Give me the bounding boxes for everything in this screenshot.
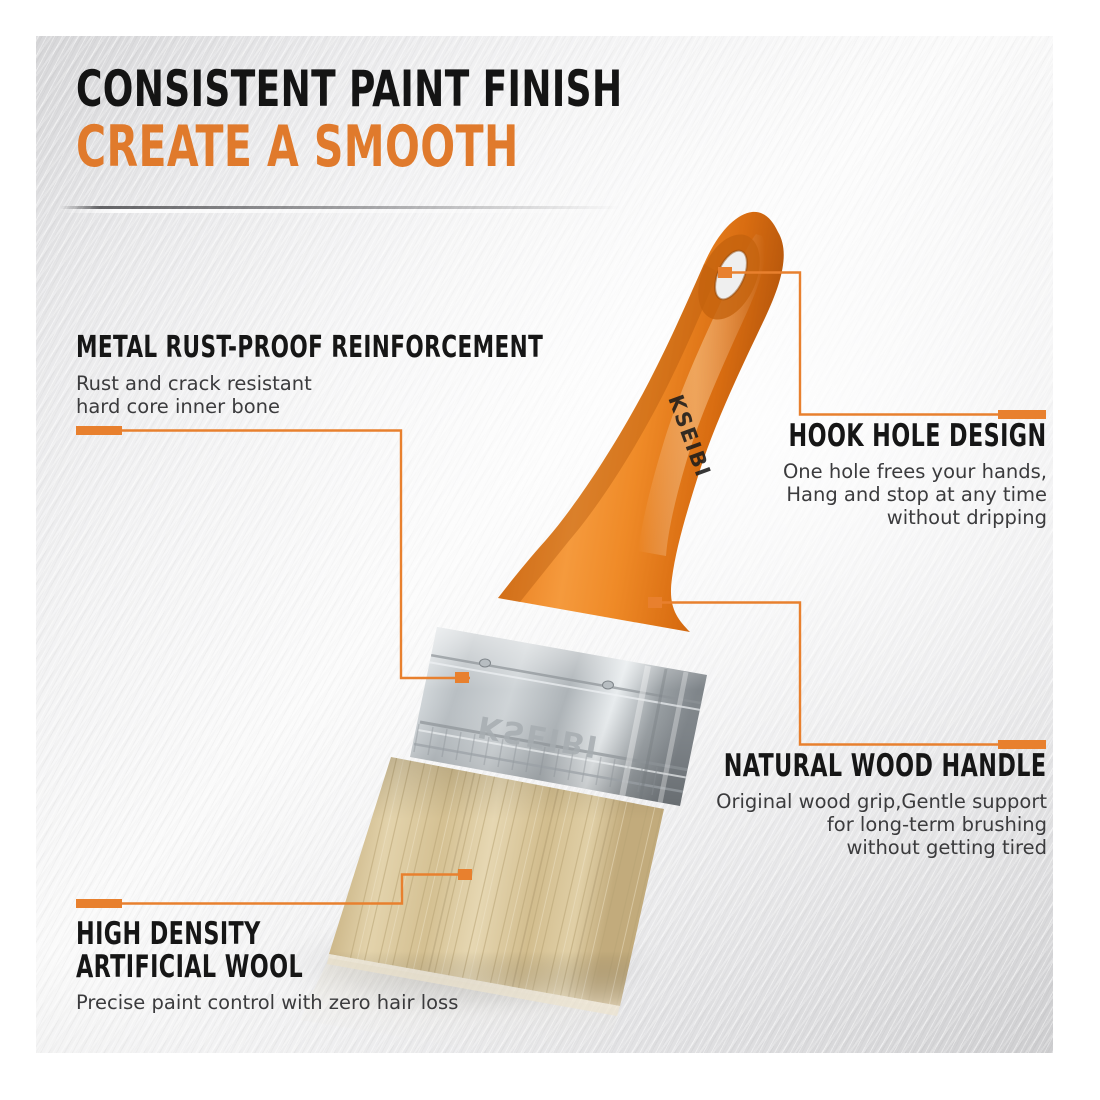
headline-line-2: CREATE A SMOOTH (76, 119, 622, 176)
callout-metal-rust-proof-reinforcement: METAL RUST-PROOF REINFORCEMENT Rust and … (76, 330, 660, 418)
headline-block: CONSISTENT PAINT FINISH CREATE A SMOOTH (76, 64, 759, 176)
callout-hook-hole-design: HOOK HOLE DESIGN One hole frees your han… (724, 418, 1047, 529)
headline-divider-highlight (60, 209, 635, 213)
callout-title: METAL RUST-PROOF REINFORCEMENT (76, 330, 543, 365)
callout-title: HOOK HOLE DESIGN (789, 418, 1047, 454)
callout-title-line-1: HIGH DENSITY (76, 918, 382, 951)
callout-natural-wood-handle: NATURAL WOOD HANDLE Original wood grip,G… (643, 748, 1047, 859)
callout-description: Precise paint control with zero hair los… (76, 991, 458, 1014)
callout-description: Original wood grip,Gentle support for lo… (643, 790, 1047, 859)
callout-title-line-2: ARTIFICIAL WOOL (76, 951, 382, 984)
callout-title: NATURAL WOOD HANDLE (724, 748, 1047, 784)
callout-high-density-artificial-wool: HIGH DENSITY ARTIFICIAL WOOL Precise pai… (76, 918, 458, 1014)
product-infographic: KSEIBI (0, 0, 1100, 1100)
callout-description: Rust and crack resistant hard core inner… (76, 372, 660, 418)
callout-description: One hole frees your hands, Hang and stop… (724, 460, 1047, 529)
headline-line-1: CONSISTENT PAINT FINISH (76, 64, 622, 115)
